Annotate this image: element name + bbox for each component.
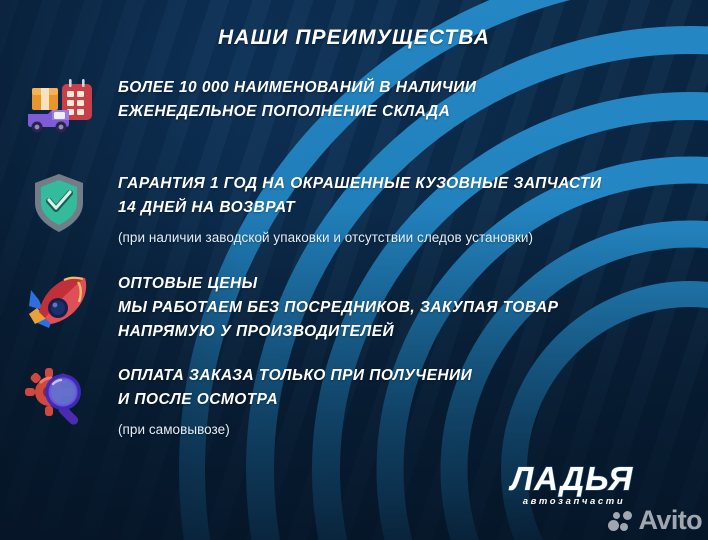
feature-note: (при наличии заводской упаковки и отсутс…: [118, 227, 602, 249]
brand-logo: ЛАДЬЯ автозапчасти: [488, 456, 656, 512]
brand-logo-name: ЛАДЬЯ: [509, 460, 634, 497]
avito-wordmark: Avito: [639, 507, 703, 534]
feature-line: БОЛЕЕ 10 000 НАИМЕНОВАНИЙ В НАЛИЧИИ: [118, 76, 477, 100]
feature-icon-cell: [0, 72, 118, 138]
rocket-icon: [23, 270, 95, 336]
feature-item: БОЛЕЕ 10 000 НАИМЕНОВАНИЙ В НАЛИЧИИ ЕЖЕН…: [0, 72, 708, 138]
feature-text-cell: ОПТОВЫЕ ЦЕНЫ МЫ РАБОТАЕМ БЕЗ ПОСРЕДНИКОВ…: [118, 268, 558, 344]
feature-note: (при самовывозе): [118, 419, 472, 441]
feature-line: ГАРАНТИЯ 1 ГОД НА ОКРАШЕННЫЕ КУЗОВНЫЕ ЗА…: [118, 172, 602, 196]
feature-line: МЫ РАБОТАЕМ БЕЗ ПОСРЕДНИКОВ, ЗАКУПАЯ ТОВ…: [118, 296, 558, 320]
feature-item: ГАРАНТИЯ 1 ГОД НА ОКРАШЕННЫЕ КУЗОВНЫЕ ЗА…: [0, 168, 708, 249]
feature-item: ОПЛАТА ЗАКАЗА ТОЛЬКО ПРИ ПОЛУЧЕНИИ И ПОС…: [0, 360, 708, 441]
feature-icon-cell: [0, 168, 118, 236]
feature-line: 14 ДНЕЙ НА ВОЗВРАТ: [118, 196, 602, 220]
feature-text-cell: ОПЛАТА ЗАКАЗА ТОЛЬКО ПРИ ПОЛУЧЕНИИ И ПОС…: [118, 360, 472, 441]
shield-check-icon: [26, 170, 92, 236]
feature-icon-cell: [0, 268, 118, 336]
feature-line: И ПОСЛЕ ОСМОТРА: [118, 388, 472, 412]
feature-line: ОПЛАТА ЗАКАЗА ТОЛЬКО ПРИ ПОЛУЧЕНИИ: [118, 364, 472, 388]
feature-text-cell: БОЛЕЕ 10 000 НАИМЕНОВАНИЙ В НАЛИЧИИ ЕЖЕН…: [118, 72, 477, 124]
avito-dots-icon: [608, 510, 634, 532]
page-title: НАШИ ПРЕИМУЩЕСТВА: [0, 26, 708, 50]
feature-text-cell: ГАРАНТИЯ 1 ГОД НА ОКРАШЕННЫЕ КУЗОВНЫЕ ЗА…: [118, 168, 602, 249]
boxes-truck-calendar-icon: [22, 74, 96, 138]
avito-watermark: Avito: [608, 507, 703, 534]
feature-line: НАПРЯМУЮ У ПРОИЗВОДИТЕЛЕЙ: [118, 320, 558, 344]
feature-icon-cell: [0, 360, 118, 428]
feature-line: ОПТОВЫЕ ЦЕНЫ: [118, 272, 558, 296]
promo-poster: НАШИ ПРЕИМУЩЕСТВА: [0, 0, 708, 540]
brand-logo-tagline: автозапчасти: [523, 496, 626, 507]
gear-magnifier-icon: [23, 362, 95, 428]
feature-item: ОПТОВЫЕ ЦЕНЫ МЫ РАБОТАЕМ БЕЗ ПОСРЕДНИКОВ…: [0, 268, 708, 344]
feature-line: ЕЖЕНЕДЕЛЬНОЕ ПОПОЛНЕНИЕ СКЛАДА: [118, 100, 477, 124]
